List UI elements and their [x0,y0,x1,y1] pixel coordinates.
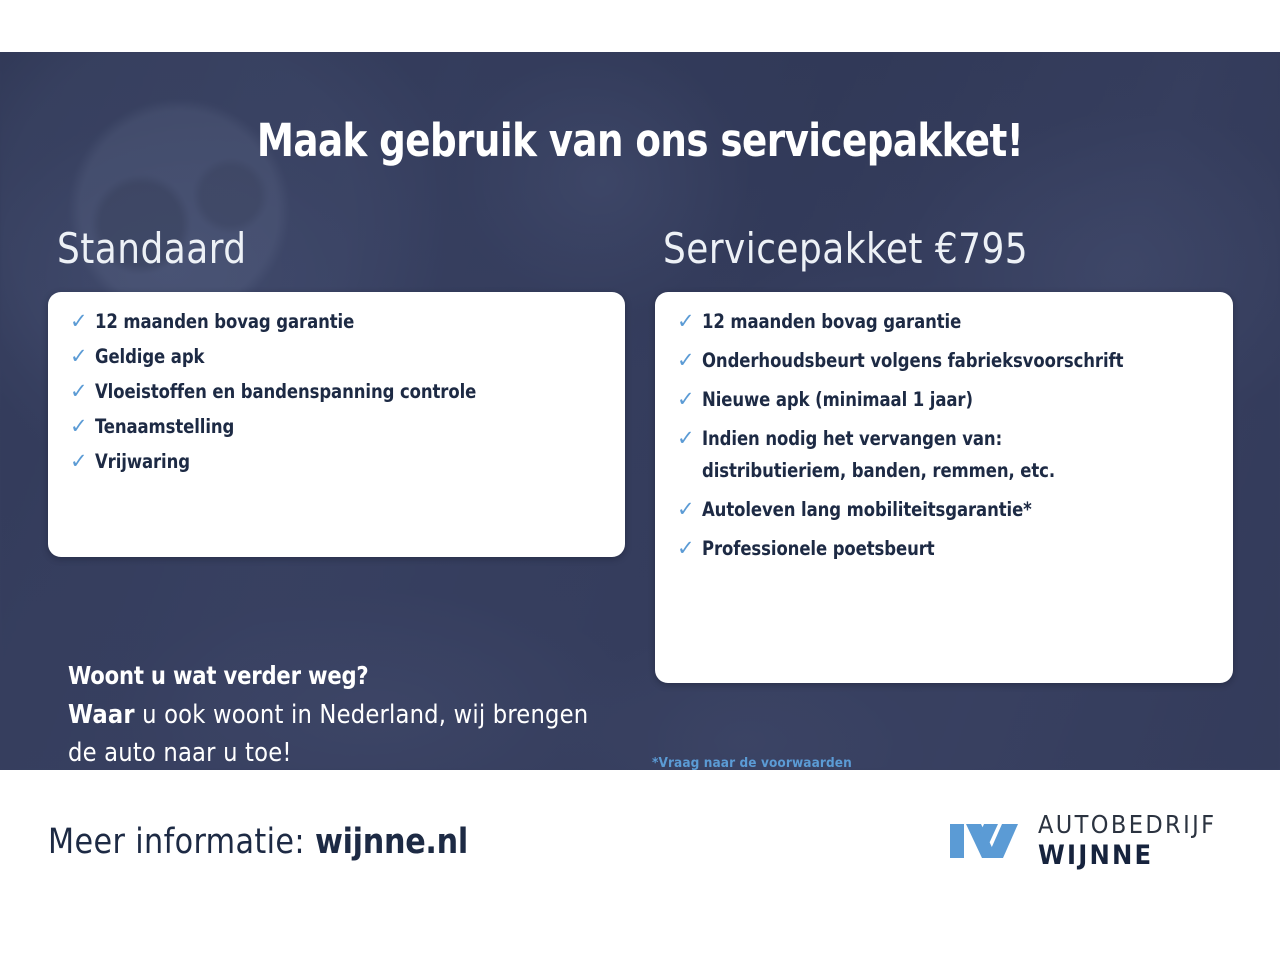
standaard-heading: Standaard [57,224,247,273]
list-item-label: 12 maanden bovag garantie [95,310,354,334]
check-icon: ✓ [70,310,92,334]
footer-section: Meer informatie: wijnne.nl AUTOBEDRIJF W… [0,770,1280,960]
check-icon: ✓ [677,498,699,522]
brand-logo: AUTOBEDRIJF WIJNNE [948,812,1216,869]
delivery-answer-bold: Waar [68,700,135,730]
list-item-label: Geldige apk [95,345,204,369]
check-icon: ✓ [70,380,92,404]
list-item: ✓ 12 maanden bovag garantie [70,310,611,334]
servicepakket-card: ✓ 12 maanden bovag garantie ✓ Onderhouds… [655,292,1233,683]
list-item-label: Nieuwe apk (minimaal 1 jaar) [702,388,973,412]
check-icon: ✓ [677,427,699,451]
list-item-label: Autoleven lang mobiliteitsgarantie* [702,498,1032,522]
list-item: ✓ 12 maanden bovag garantie [677,310,1219,334]
list-item: ✓ Onderhoudsbeurt volgens fabrieksvoorsc… [677,349,1219,373]
brand-line-1: AUTOBEDRIJF [1038,812,1216,837]
servicepakket-feature-list: ✓ 12 maanden bovag garantie ✓ Onderhouds… [677,310,1219,576]
check-icon: ✓ [677,537,699,561]
more-info-label: Meer informatie: [48,822,315,862]
delivery-question: Woont u wat verder weg? [68,660,576,692]
standaard-card: ✓ 12 maanden bovag garantie ✓ Geldige ap… [48,292,625,557]
check-icon: ✓ [677,310,699,334]
more-info-line: Meer informatie: wijnne.nl [48,822,468,862]
standaard-feature-list: ✓ 12 maanden bovag garantie ✓ Geldige ap… [70,310,611,485]
list-item-label: Vrijwaring [95,450,190,474]
list-item-label: Tenaamstelling [95,415,234,439]
check-icon: ✓ [677,388,699,412]
list-item-continuation: distributieriem, banden, remmen, etc. [702,459,1055,483]
list-item: ✓ Vloeistoffen en bandenspanning control… [70,380,611,404]
check-icon: ✓ [70,450,92,474]
check-icon: ✓ [677,349,699,373]
delivery-answer-rest: u ook woont in Nederland, wij brengen de… [68,700,588,768]
page-title: Maak gebruik van ons servicepakket! [51,114,1229,167]
check-icon: ✓ [70,415,92,439]
list-item-label: 12 maanden bovag garantie [702,310,961,334]
list-item: ✓ Tenaamstelling [70,415,611,439]
list-item-label: Professionele poetsbeurt [702,537,935,561]
check-icon: ✓ [70,345,92,369]
top-white-band [0,0,1280,52]
list-item: ✓ Indien nodig het vervangen van: distri… [677,427,1219,483]
brand-wordmark: AUTOBEDRIJF WIJNNE [1038,812,1216,869]
list-item: ✓ Nieuwe apk (minimaal 1 jaar) [677,388,1219,412]
list-item-label: Vloeistoffen en bandenspanning controle [95,380,476,404]
brand-line-2: WIJNNE [1038,842,1216,869]
conditions-footnote: *Vraag naar de voorwaarden [652,755,852,770]
servicepakket-heading: Servicepakket €795 [663,224,1028,273]
delivery-answer: Waar u ook woont in Nederland, wij breng… [68,696,592,770]
delivery-block: Woont u wat verder weg? Waar u ook woont… [68,660,608,770]
hero-section: Maak gebruik van ons servicepakket! Stan… [0,52,1280,770]
list-item: ✓ Geldige apk [70,345,611,369]
list-item: ✓ Professionele poetsbeurt [677,537,1219,561]
list-item-label: Indien nodig het vervangen van: [702,427,1002,450]
website-link[interactable]: wijnne.nl [315,822,468,862]
list-item: ✓ Vrijwaring [70,450,611,474]
list-item: ✓ Autoleven lang mobiliteitsgarantie* [677,498,1219,522]
wijnne-w-logo-icon [948,816,1022,866]
list-item-label: Onderhoudsbeurt volgens fabrieksvoorschr… [702,349,1123,373]
list-item-label-multiline: Indien nodig het vervangen van: distribu… [702,427,1055,483]
